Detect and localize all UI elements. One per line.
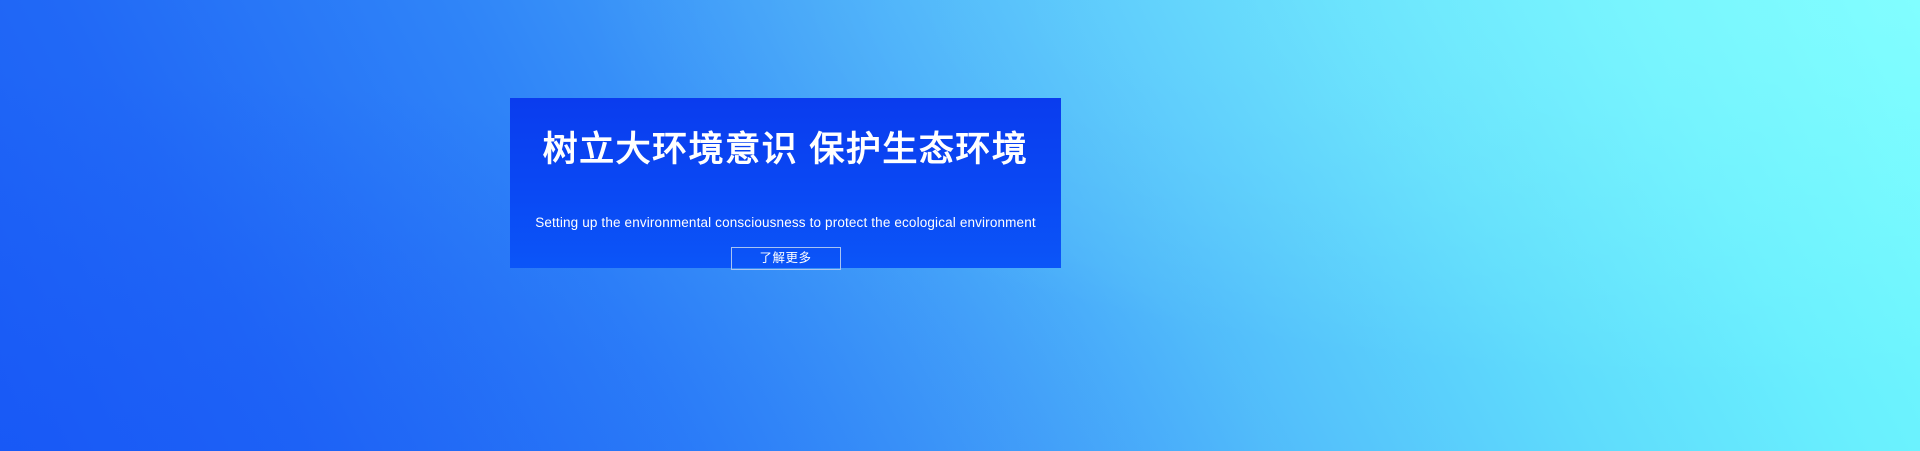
hero-banner: 树立大环境意识 保护生态环境 Setting up the environmen…	[0, 0, 1920, 451]
banner-subtitle: Setting up the environmental consciousne…	[535, 215, 1036, 231]
promo-panel: 树立大环境意识 保护生态环境 Setting up the environmen…	[510, 98, 1061, 268]
learn-more-button[interactable]: 了解更多	[731, 247, 841, 270]
banner-headline: 树立大环境意识 保护生态环境	[543, 132, 1029, 167]
